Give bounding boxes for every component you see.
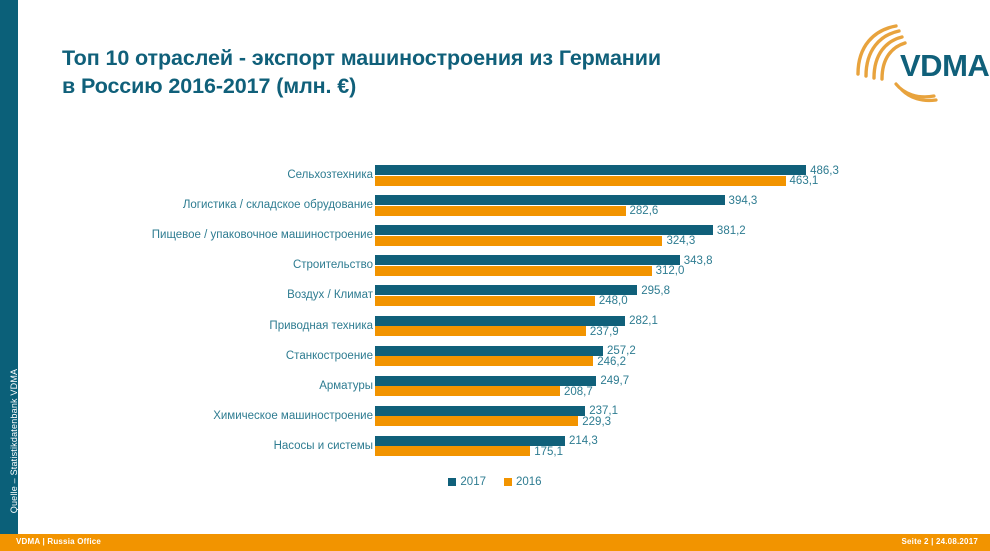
- bar-2017: [375, 195, 725, 205]
- bar-value-label: 282,6: [630, 205, 659, 217]
- category-label: Сельхозтехника: [287, 169, 373, 181]
- bar-2017: [375, 346, 603, 356]
- bar-value-label: 463,1: [790, 175, 819, 187]
- category-label: Насосы и системы: [274, 440, 373, 452]
- bar-2017: [375, 285, 637, 295]
- legend-label: 2017: [460, 476, 486, 488]
- bar-value-label: 394,3: [729, 195, 758, 207]
- bar-2017: [375, 376, 596, 386]
- category-label: Станкостроение: [286, 350, 373, 362]
- legend-label: 2016: [516, 476, 542, 488]
- legend-item-2017[interactable]: 2017: [448, 476, 486, 488]
- bar-2016: [375, 326, 586, 336]
- bar-value-label: 208,7: [564, 386, 593, 398]
- bar-2017: [375, 316, 625, 326]
- bar-value-label: 381,2: [717, 225, 746, 237]
- bar-value-label: 282,1: [629, 315, 658, 327]
- category-label: Воздух / Климат: [287, 289, 373, 301]
- legend-swatch-icon: [448, 478, 456, 486]
- footer-bar: VDMA | Russia Office Seite 2 | 24.08.201…: [0, 534, 990, 551]
- bar-value-label: 312,0: [656, 265, 685, 277]
- category-label: Логистика / складское обрудование: [183, 199, 373, 211]
- footer-right-text: Seite 2 | 24.08.2017: [901, 537, 978, 546]
- bar-value-label: 237,9: [590, 326, 619, 338]
- category-label: Приводная техника: [269, 320, 373, 332]
- bar-2017: [375, 436, 565, 446]
- bar-2016: [375, 416, 578, 426]
- bar-2016: [375, 386, 560, 396]
- bar-value-label: 246,2: [597, 356, 626, 368]
- category-label: Строительство: [293, 259, 373, 271]
- bar-2017: [375, 255, 680, 265]
- bar-2016: [375, 356, 593, 366]
- category-label: Пищевое / упаковочное машиностроение: [152, 229, 373, 241]
- category-label: Арматуры: [319, 380, 373, 392]
- bar-value-label: 295,8: [641, 285, 670, 297]
- slide-canvas: Quelle – Statistikdatenbank VDMA Топ 10 …: [0, 0, 990, 551]
- bar-2017: [375, 225, 713, 235]
- category-label: Химическое машиностроение: [213, 410, 373, 422]
- chart-legend: 20172016: [0, 476, 990, 488]
- bar-value-label: 175,1: [534, 446, 563, 458]
- legend-item-2016[interactable]: 2016: [504, 476, 542, 488]
- legend-swatch-icon: [504, 478, 512, 486]
- bar-value-label: 324,3: [666, 235, 695, 247]
- bar-2016: [375, 446, 530, 456]
- bar-chart: Сельхозтехника486,3463,1Логистика / скла…: [0, 0, 990, 534]
- bar-value-label: 249,7: [600, 375, 629, 387]
- bar-2016: [375, 296, 595, 306]
- bar-2016: [375, 176, 786, 186]
- bar-value-label: 343,8: [684, 255, 713, 267]
- bar-2016: [375, 206, 626, 216]
- bar-value-label: 229,3: [582, 416, 611, 428]
- bar-value-label: 214,3: [569, 435, 598, 447]
- footer-left-text: VDMA | Russia Office: [16, 537, 101, 546]
- bar-value-label: 248,0: [599, 295, 628, 307]
- bar-2016: [375, 266, 652, 276]
- bar-2016: [375, 236, 662, 246]
- bar-2017: [375, 165, 806, 175]
- bar-2017: [375, 406, 585, 416]
